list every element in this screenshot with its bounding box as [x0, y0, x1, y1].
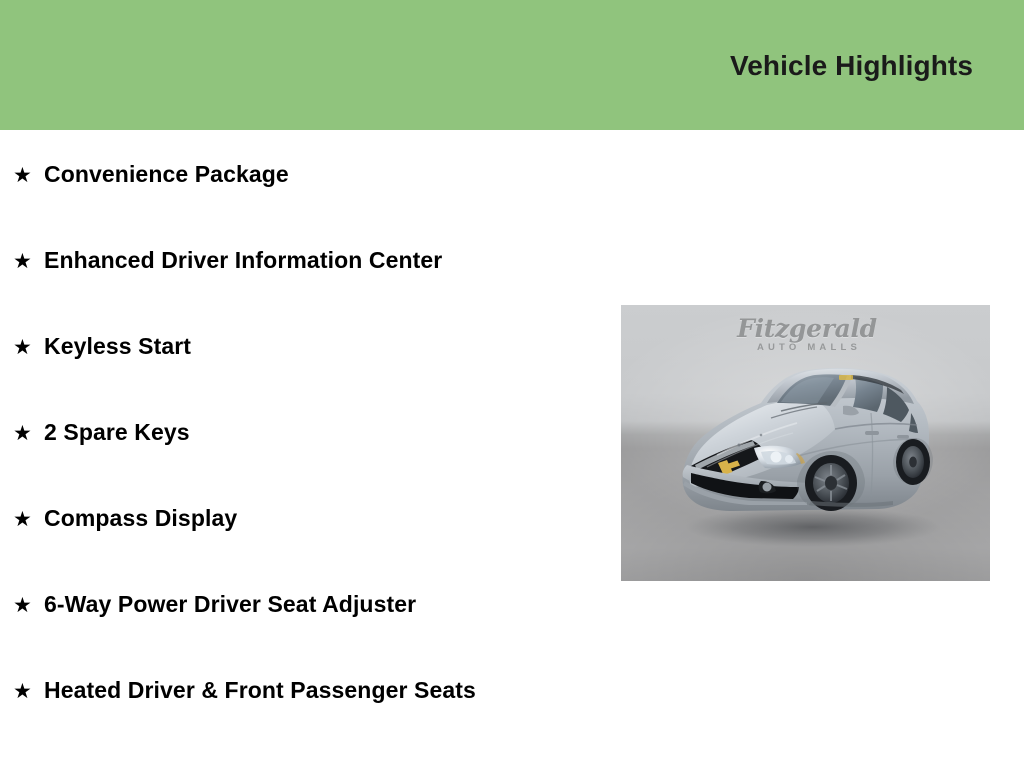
list-item: ★ 6-Way Power Driver Seat Adjuster: [0, 588, 600, 674]
star-icon: ★: [13, 675, 32, 708]
list-item: ★ Keyless Start: [0, 330, 600, 416]
page-title: Vehicle Highlights: [730, 50, 973, 82]
highlight-label: 2 Spare Keys: [44, 416, 592, 449]
highlight-label: Heated Driver & Front Passenger Seats: [44, 674, 592, 707]
highlight-label: Compass Display: [44, 502, 592, 535]
list-item: ★ Enhanced Driver Information Center: [0, 244, 600, 330]
header-banner: Vehicle Highlights: [0, 0, 1024, 130]
car-illustration: [621, 305, 990, 581]
highlight-label: 6-Way Power Driver Seat Adjuster: [44, 588, 592, 621]
list-item: ★ 2 Spare Keys: [0, 416, 600, 502]
list-item: ★ Heated Driver & Front Passenger Seats: [0, 674, 600, 760]
star-icon: ★: [13, 503, 32, 536]
vehicle-photo: Fitzgerald AUTO MALLS: [621, 305, 990, 581]
list-item: ★ Convenience Package: [0, 158, 600, 244]
star-icon: ★: [13, 159, 32, 192]
star-icon: ★: [13, 245, 32, 278]
highlight-label: Enhanced Driver Information Center: [44, 244, 592, 277]
star-icon: ★: [13, 331, 32, 364]
vehicle-highlights-list: ★ Convenience Package ★ Enhanced Driver …: [0, 130, 600, 760]
star-icon: ★: [13, 417, 32, 450]
highlight-label: Keyless Start: [44, 330, 592, 363]
vehicle-highlights-page: Vehicle Highlights ★ Convenience Package…: [0, 0, 1024, 768]
star-icon: ★: [13, 589, 32, 622]
highlight-label: Convenience Package: [44, 158, 592, 191]
list-item: ★ Compass Display: [0, 502, 600, 588]
